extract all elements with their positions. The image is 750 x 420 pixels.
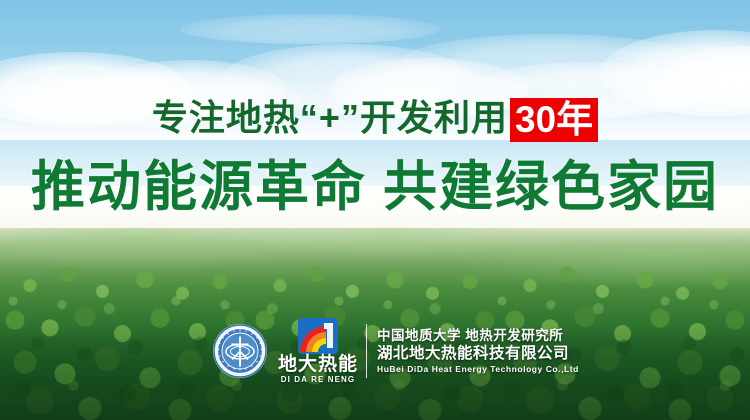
company-name-cn: 湖北地大热能科技有限公司 [377, 344, 579, 363]
headline-plus-symbol: + [319, 97, 341, 138]
headline-line-1: 专注地热“+”开发利用30年 [0, 96, 750, 142]
company-name-en: HuBei DiDa Heat Energy Technology Co.,Lt… [377, 363, 579, 375]
dida-rainbow-logo-icon [298, 318, 338, 354]
promotional-banner: 专注地热“+”开发利用30年 推动能源革命共建绿色家园 [0, 0, 750, 420]
organisation-names: 中国地质大学 地热开发研究所 湖北地大热能科技有限公司 HuBei DiDa H… [377, 327, 579, 375]
footer-logo-lockup: 地大热能 DI DA RE NENG 中国地质大学 地热开发研究所 湖北地大热能… [212, 318, 552, 384]
brand-logo-group: 地大热能 DI DA RE NENG [274, 318, 362, 385]
headline-line-1-prefix: 专注地热 [152, 97, 300, 138]
headline-line-2-part-2: 共建绿色家园 [383, 157, 719, 217]
headline-quote-close: ” [341, 97, 360, 138]
headline-line-1-middle: 开发利用 [360, 97, 508, 138]
headline-line-2: 推动能源革命共建绿色家园 [0, 156, 750, 218]
institute-name-cn: 中国地质大学 地热开发研究所 [377, 327, 579, 344]
brand-name-en: DI DA RE NENG [281, 375, 355, 385]
headline-line-2-part-1: 推动能源革命 [31, 157, 367, 217]
university-seal-icon [212, 323, 268, 379]
anniversary-badge: 30年 [510, 98, 598, 142]
headline-quote-open: “ [300, 97, 319, 138]
brand-name-cn: 地大热能 [278, 355, 358, 375]
footer-divider [366, 324, 367, 378]
headline-block: 专注地热“+”开发利用30年 推动能源革命共建绿色家园 [0, 96, 750, 218]
